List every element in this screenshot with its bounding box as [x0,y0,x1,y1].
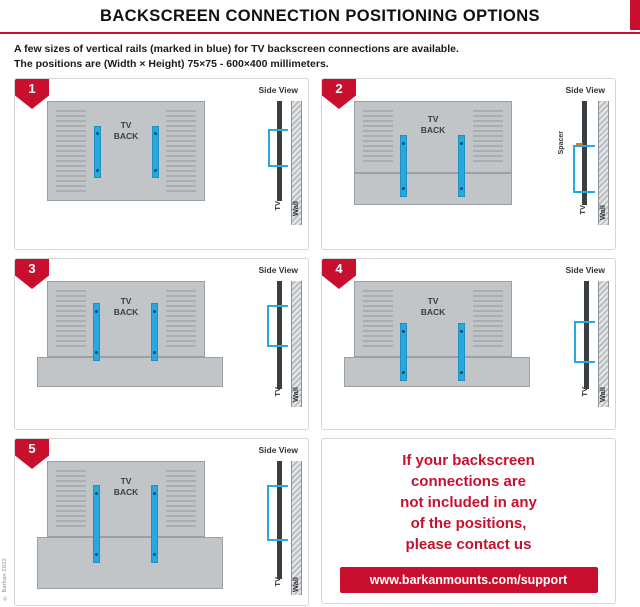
tv-back-label: TVBACK [355,114,511,136]
wall-side-label: Wall [291,387,300,402]
tv-side-label: TV [273,387,282,397]
contact-line-1: If your backscreen [402,452,535,469]
copyright-credit: © Barkan 2022 [2,558,8,601]
tv-body: TVBACK [47,101,205,201]
rail-right [458,135,465,197]
tv-base [354,173,512,205]
side-view-diagram: TV Wall [562,281,612,413]
rail-right [152,126,159,178]
poster-header: BACKSCREEN CONNECTION POSITIONING OPTION… [0,0,640,34]
option-panel-2: 2 Side View TVBACK [321,78,616,250]
tv-body: TVBACK [354,101,512,173]
rail-right [151,485,158,563]
side-view-label: Side View [565,85,605,95]
rail-left [400,135,407,197]
rail-left [94,126,101,178]
option-number-badge: 5 [15,439,49,469]
bracket-profile [574,321,595,363]
tv-side-label: TV [273,201,282,211]
page-title: BACKSCREEN CONNECTION POSITIONING OPTION… [100,7,540,26]
wall-side-label: Wall [598,205,607,220]
side-view-label: Side View [258,85,298,95]
option-number-badge: 1 [15,79,49,109]
tv-base [37,357,223,387]
tv-illustration: TVBACK [47,101,205,201]
contact-line-4: of the positions, [411,515,527,532]
contact-message: If your backscreen connections are not i… [400,450,537,555]
tv-base [37,537,223,589]
bracket-profile [268,129,288,167]
contact-panel: If your backscreen connections are not i… [321,438,616,604]
tv-side-label: TV [273,577,282,587]
rail-left [93,303,100,361]
contact-line-3: not included in any [400,494,537,511]
support-url-button[interactable]: www.barkanmounts.com/support [340,567,598,593]
option-number-badge: 2 [322,79,356,109]
options-grid: 1 Side View TVBACK [14,78,626,606]
rail-right [151,303,158,361]
intro-line-2: The positions are (Width × Height) 75×75… [14,57,626,72]
option-number-badge: 3 [15,259,49,289]
side-view-label: Side View [258,265,298,275]
tv-back-label: TVBACK [48,120,204,142]
option-panel-5: 5 Side View TVBACK [14,438,309,606]
intro-line-1: A few sizes of vertical rails (marked in… [14,42,626,57]
rail-left [93,485,100,563]
contact-line-2: connections are [411,473,526,490]
tv-side-label: TV [580,387,589,397]
tv-body: TVBACK [47,461,205,537]
header-corner-accent [630,0,640,30]
wall-side-label: Wall [291,577,300,592]
tv-illustration: TVBACK [47,461,205,537]
tv-illustration: TVBACK [354,101,512,173]
option-number-badge: 4 [322,259,356,289]
side-view-label: Side View [258,445,298,455]
side-view-diagram: TV Wall [255,101,305,231]
side-view-diagram: TV Wall [255,281,305,413]
tv-body: TVBACK [47,281,205,357]
tv-back-label: TVBACK [355,296,511,318]
bracket-profile [267,485,288,541]
tv-side-label: TV [578,205,587,215]
tv-illustration: TVBACK [47,281,205,357]
wall-hatch [291,461,302,595]
poster-page: BACKSCREEN CONNECTION POSITIONING OPTION… [0,0,640,607]
contact-line-5: please contact us [406,536,532,553]
tv-body: TVBACK [354,281,512,357]
option-panel-4: 4 Side View TVBACK [321,258,616,430]
rail-left [400,323,407,381]
rail-right [458,323,465,381]
wall-side-label: Wall [291,201,300,216]
wall-side-label: Wall [598,387,607,402]
tv-illustration: TVBACK [354,281,512,357]
option-panel-1: 1 Side View TVBACK [14,78,309,250]
tv-back-label: TVBACK [48,296,204,318]
side-view-diagram: Spacer TV Wall [556,101,614,231]
side-view-label: Side View [565,265,605,275]
intro-text: A few sizes of vertical rails (marked in… [0,34,640,78]
option-panel-3: 3 Side View TVBACK [14,258,309,430]
tv-base [344,357,530,387]
side-view-diagram: TV Wall [255,461,305,601]
spacer-label: Spacer [558,131,565,154]
bracket-profile [573,145,595,193]
tv-back-label: TVBACK [48,476,204,498]
bracket-profile [267,305,288,347]
